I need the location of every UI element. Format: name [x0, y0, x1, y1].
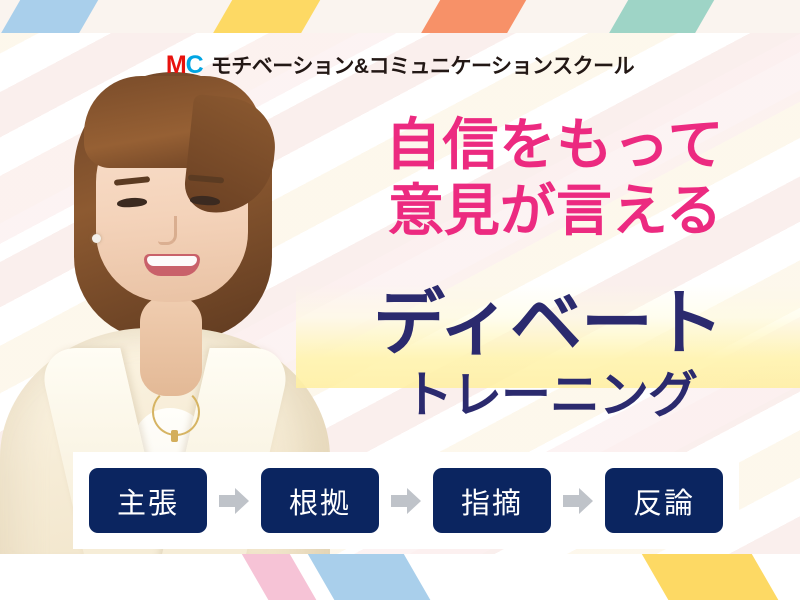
headline-line-1: 自信をもって: [340, 112, 770, 178]
brand-logo: MCモチベーション&コミュニケーションスクール: [0, 50, 800, 80]
portrait-pendant: [171, 430, 178, 442]
portrait-nose: [158, 216, 177, 245]
right-arrow-icon: [379, 488, 433, 514]
portrait-earring: [92, 234, 101, 243]
stripe-yellow: [619, 554, 800, 600]
logo-wordmark: モチベーション&コミュニケーションスクール: [211, 55, 634, 78]
flow-step-3-label: 指摘: [461, 480, 523, 522]
flow-step-1-label: 主張: [117, 480, 179, 522]
stripe-yellow: [169, 0, 344, 33]
flow-step-4-label: 反論: [633, 480, 695, 522]
process-flow: 主張 根拠 指摘: [89, 468, 723, 533]
portrait-mouth: [144, 254, 200, 276]
title-sub: トレーニング: [300, 370, 800, 420]
right-arrow-icon: [551, 488, 605, 514]
process-flow-panel: 主張 根拠 指摘: [73, 452, 739, 549]
flow-step-2-label: 根拠: [289, 480, 351, 522]
flow-step-1[interactable]: 主張: [89, 468, 207, 533]
logo-mark-c: C: [186, 51, 204, 79]
headline-line-2: 意見が言える: [340, 178, 770, 244]
flow-step-4[interactable]: 反論: [605, 468, 723, 533]
stripe-blue: [0, 0, 121, 33]
headline: 自信をもって 意見が言える: [340, 112, 770, 244]
top-stripe-band: [0, 0, 800, 33]
title-main: ディベート: [300, 288, 796, 360]
right-arrow-icon: [207, 488, 261, 514]
portrait-necklace: [152, 388, 200, 436]
portrait-teeth: [147, 256, 197, 266]
promo-banner: MCモチベーション&コミュニケーションスクール 自信をもって 意見が言える ディ…: [0, 0, 800, 600]
flow-step-2[interactable]: 根拠: [261, 468, 379, 533]
portrait-neck: [140, 296, 202, 396]
logo-mark-m: M: [166, 51, 186, 79]
stripe-teal: [0, 554, 29, 600]
stripe-teal: [565, 0, 738, 33]
stripe-orange: [377, 0, 550, 33]
flow-step-3[interactable]: 指摘: [433, 468, 551, 533]
bottom-stripe-band: [0, 554, 800, 600]
